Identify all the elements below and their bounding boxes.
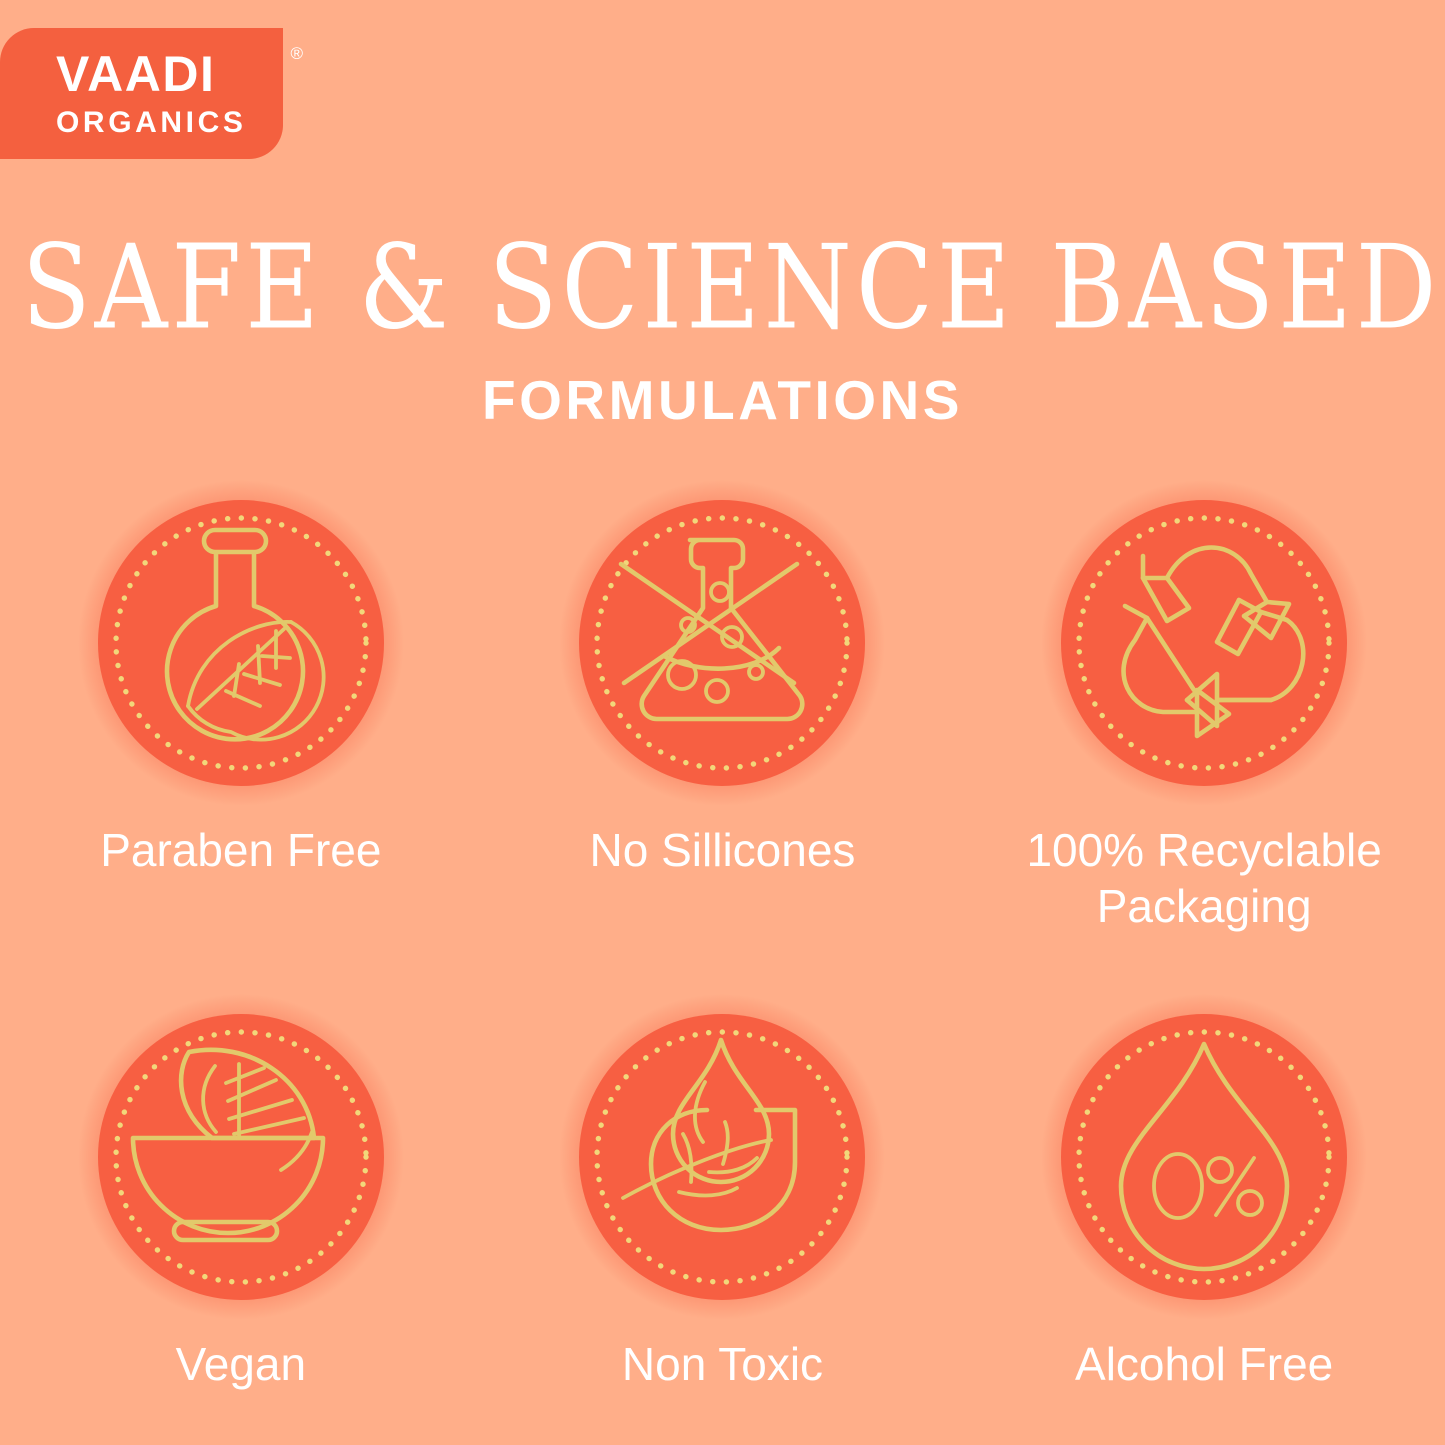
badge-non-toxic (557, 992, 887, 1322)
feature-item-vegan: Vegan (0, 992, 482, 1392)
feature-label: 100% Recyclable Packaging (1004, 822, 1404, 934)
flask-with-leaf-icon (76, 478, 406, 808)
feature-item-non-toxic: Non Toxic (482, 992, 964, 1392)
badge-recyclable-packaging (1039, 478, 1369, 808)
feature-label: Alcohol Free (1075, 1336, 1333, 1392)
feature-label: Vegan (176, 1336, 306, 1392)
zero-percent-text (1154, 1154, 1262, 1218)
brand-subtitle: ORGANICS (56, 108, 283, 138)
brand-name: VAADI® (56, 49, 283, 99)
crossed-out-conical-flask-icon (557, 478, 887, 808)
recycle-icon (1039, 478, 1369, 808)
droplet-zero-percent-icon (1039, 992, 1369, 1322)
page-subtitle: FORMULATIONS (0, 368, 1445, 432)
droplet-on-leaf-icon (557, 992, 887, 1322)
feature-item-alcohol-free: Alcohol Free (963, 992, 1445, 1392)
brand-logo-badge: VAADI® ORGANICS (0, 28, 283, 159)
badge-no-sillicones (557, 478, 887, 808)
feature-item-no-sillicones: No Sillicones (482, 478, 964, 934)
feature-item-recyclable-packaging: 100% Recyclable Packaging (963, 478, 1445, 934)
feature-label: No Sillicones (590, 822, 856, 878)
feature-item-paraben-free: Paraben Free (0, 478, 482, 934)
brand-name-text: VAADI (56, 46, 215, 102)
feature-label: Paraben Free (100, 822, 381, 878)
bowl-with-leaf-icon (76, 992, 406, 1322)
badge-alcohol-free (1039, 992, 1369, 1322)
feature-label: Non Toxic (622, 1336, 823, 1392)
badge-vegan (76, 992, 406, 1322)
features-grid: Paraben Free (0, 478, 1445, 1392)
badge-paraben-free (76, 478, 406, 808)
header-block: SAFE & SCIENCE BASED FORMULATIONS (0, 228, 1445, 432)
registered-trademark-icon: ® (290, 45, 303, 62)
page-title: SAFE & SCIENCE BASED (22, 228, 1424, 347)
